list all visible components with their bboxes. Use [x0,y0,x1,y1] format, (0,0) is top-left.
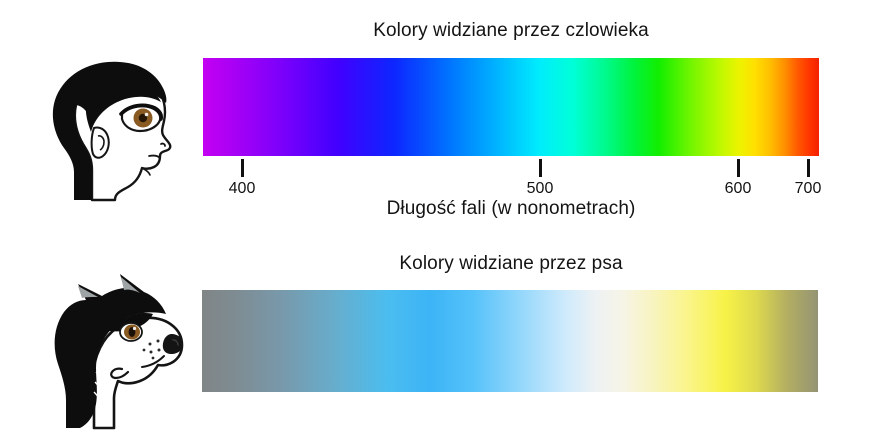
axis-tick-label-600: 600 [725,180,752,198]
axis-tick-label-700: 700 [795,180,822,198]
human-section-title: Kolory widziane przez czlowieka [203,20,819,42]
human-visible-spectrum-bar [203,58,819,156]
human-profile-illustration [30,52,190,207]
axis-tick-600 [737,159,740,177]
dog-profile-illustration [32,268,202,433]
dog-visible-spectrum-bar [202,290,818,392]
axis-tick-500 [539,159,542,177]
axis-tick-label-500: 500 [527,180,554,198]
axis-tick-400 [241,159,244,177]
dog-section-title: Kolory widziane przez psa [203,253,819,275]
page-canvas: Kolory widziane przez czlowieka [0,0,888,444]
axis-tick-label-400: 400 [229,180,256,198]
axis-tick-700 [807,159,810,177]
axis-title: Długość fali (w nonometrach) [203,198,819,220]
